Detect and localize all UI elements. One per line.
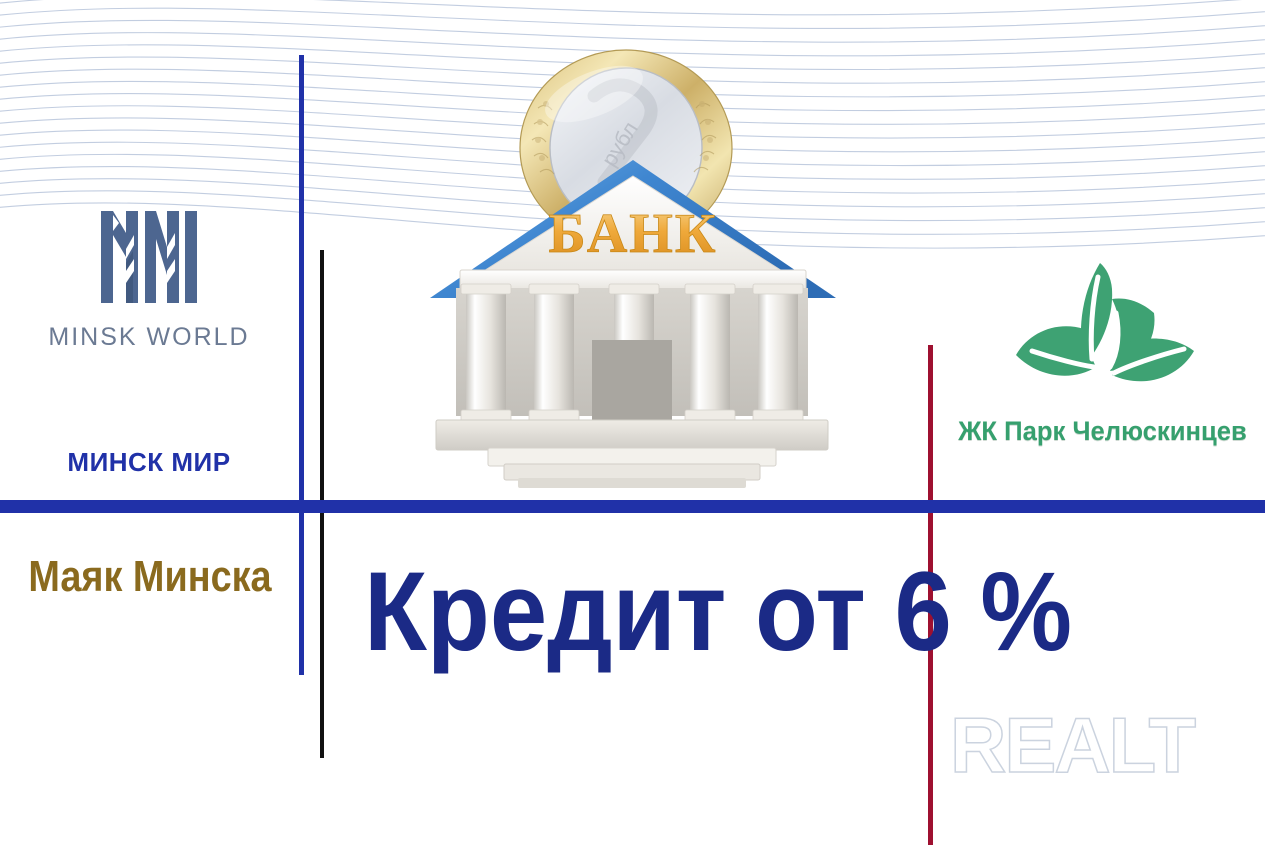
green-leaf-icon [988, 255, 1218, 410]
headline-credit-rate: Кредит от 6 % [364, 556, 916, 668]
minsk-mir-cyrillic-label: МИНСК МИР [0, 447, 298, 478]
minsk-world-latin-label: MINSK WORLD [0, 323, 298, 352]
bank-base [436, 420, 828, 488]
horizontal-rule-blue [0, 500, 1265, 513]
realt-watermark: REALT [950, 700, 1194, 791]
mayak-minska-label: Маяк Минска [21, 552, 279, 602]
banner-canvas: рубл БАНК [0, 0, 1265, 845]
park-chelyuskintsev-label: ЖК Парк Челюскинцев [948, 416, 1257, 447]
bank-doorway [592, 340, 672, 420]
bank-pediment-text: БАНК [549, 203, 718, 265]
mw-monogram-icon [93, 205, 205, 309]
brand-block-park-chelyuskintsev: ЖК Парк Челюскинцев [940, 255, 1265, 447]
brand-block-minsk-world: MINSK WORLD [0, 205, 298, 352]
bank-columns [456, 284, 808, 422]
bank-building-illustration: рубл БАНК [418, 48, 848, 488]
vertical-rule-blue [299, 55, 304, 675]
